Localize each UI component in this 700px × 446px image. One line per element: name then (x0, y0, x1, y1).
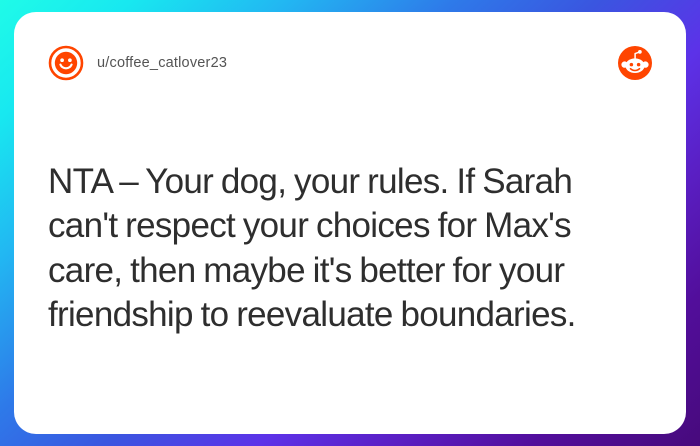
gradient-background: u/coffee_catlover23 (0, 0, 700, 446)
author-username: u/coffee_catlover23 (97, 55, 227, 71)
reddit-snoo-logo-icon[interactable] (618, 46, 652, 80)
card-header: u/coffee_catlover23 (48, 42, 652, 84)
smiley-face-avatar-icon (48, 45, 84, 81)
card-body: NTA – Your dog, your rules. If Sarah can… (48, 84, 652, 404)
author-block[interactable]: u/coffee_catlover23 (48, 45, 227, 81)
comment-card: u/coffee_catlover23 (14, 12, 686, 434)
comment-text: NTA – Your dog, your rules. If Sarah can… (48, 160, 648, 338)
